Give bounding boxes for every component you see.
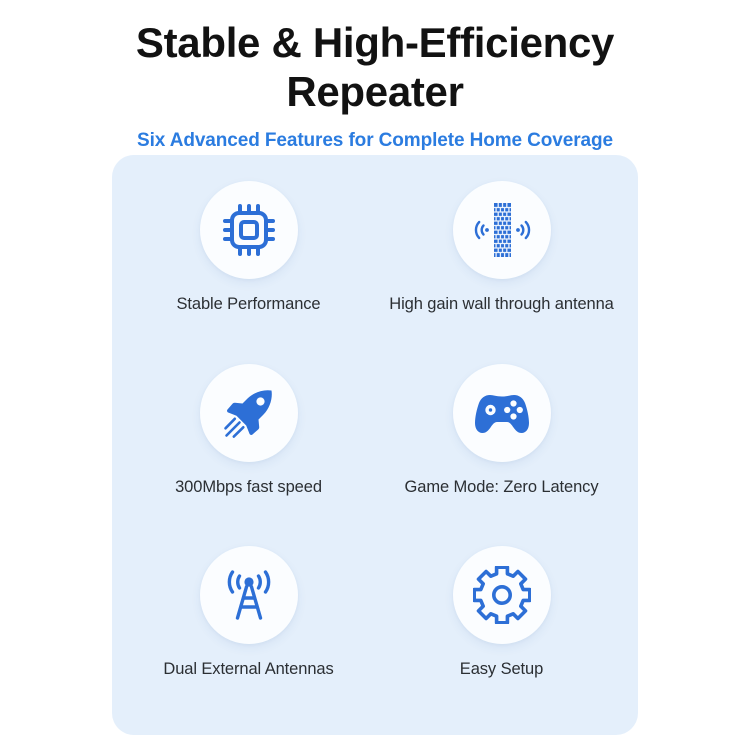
feature-icon-badge bbox=[200, 181, 298, 279]
feature-item-dual-antennas: Dual External Antennas bbox=[122, 538, 375, 717]
feature-icon-badge bbox=[200, 364, 298, 462]
page-title-line-2: Repeater bbox=[45, 67, 705, 116]
broadcast-tower-icon bbox=[220, 567, 278, 623]
feature-icon-badge bbox=[200, 546, 298, 644]
gear-icon bbox=[473, 566, 531, 624]
feature-item-wall-penetration: High gain wall through antenna bbox=[375, 181, 628, 360]
feature-label: Dual External Antennas bbox=[163, 659, 333, 680]
wall-signal-penetration-icon bbox=[471, 200, 533, 260]
feature-label: High gain wall through antenna bbox=[389, 294, 614, 315]
feature-icon-badge bbox=[453, 181, 551, 279]
feature-icon-badge bbox=[453, 364, 551, 462]
feature-label: Stable Performance bbox=[176, 294, 320, 315]
page-header: Stable & High-Efficiency Repeater Six Ad… bbox=[0, 0, 750, 152]
feature-panel: Stable Performance bbox=[112, 155, 638, 735]
feature-grid: Stable Performance bbox=[122, 181, 628, 717]
feature-label: Game Mode: Zero Latency bbox=[405, 477, 599, 498]
product-feature-page: Stable & High-Efficiency Repeater Six Ad… bbox=[0, 0, 750, 750]
page-title-line-1: Stable & High-Efficiency bbox=[45, 18, 705, 67]
page-subtitle: Six Advanced Features for Complete Home … bbox=[0, 130, 750, 152]
feature-item-easy-setup: Easy Setup bbox=[375, 538, 628, 717]
feature-item-game-mode: Game Mode: Zero Latency bbox=[375, 360, 628, 539]
feature-label: Easy Setup bbox=[460, 659, 543, 680]
feature-icon-badge bbox=[453, 546, 551, 644]
cpu-chip-icon bbox=[221, 202, 277, 258]
rocket-icon bbox=[221, 385, 277, 441]
feature-item-stable-performance: Stable Performance bbox=[122, 181, 375, 360]
feature-label: 300Mbps fast speed bbox=[175, 477, 322, 498]
page-title: Stable & High-Efficiency Repeater bbox=[45, 18, 705, 116]
feature-item-fast-speed: 300Mbps fast speed bbox=[122, 360, 375, 539]
gamepad-icon bbox=[472, 389, 532, 437]
